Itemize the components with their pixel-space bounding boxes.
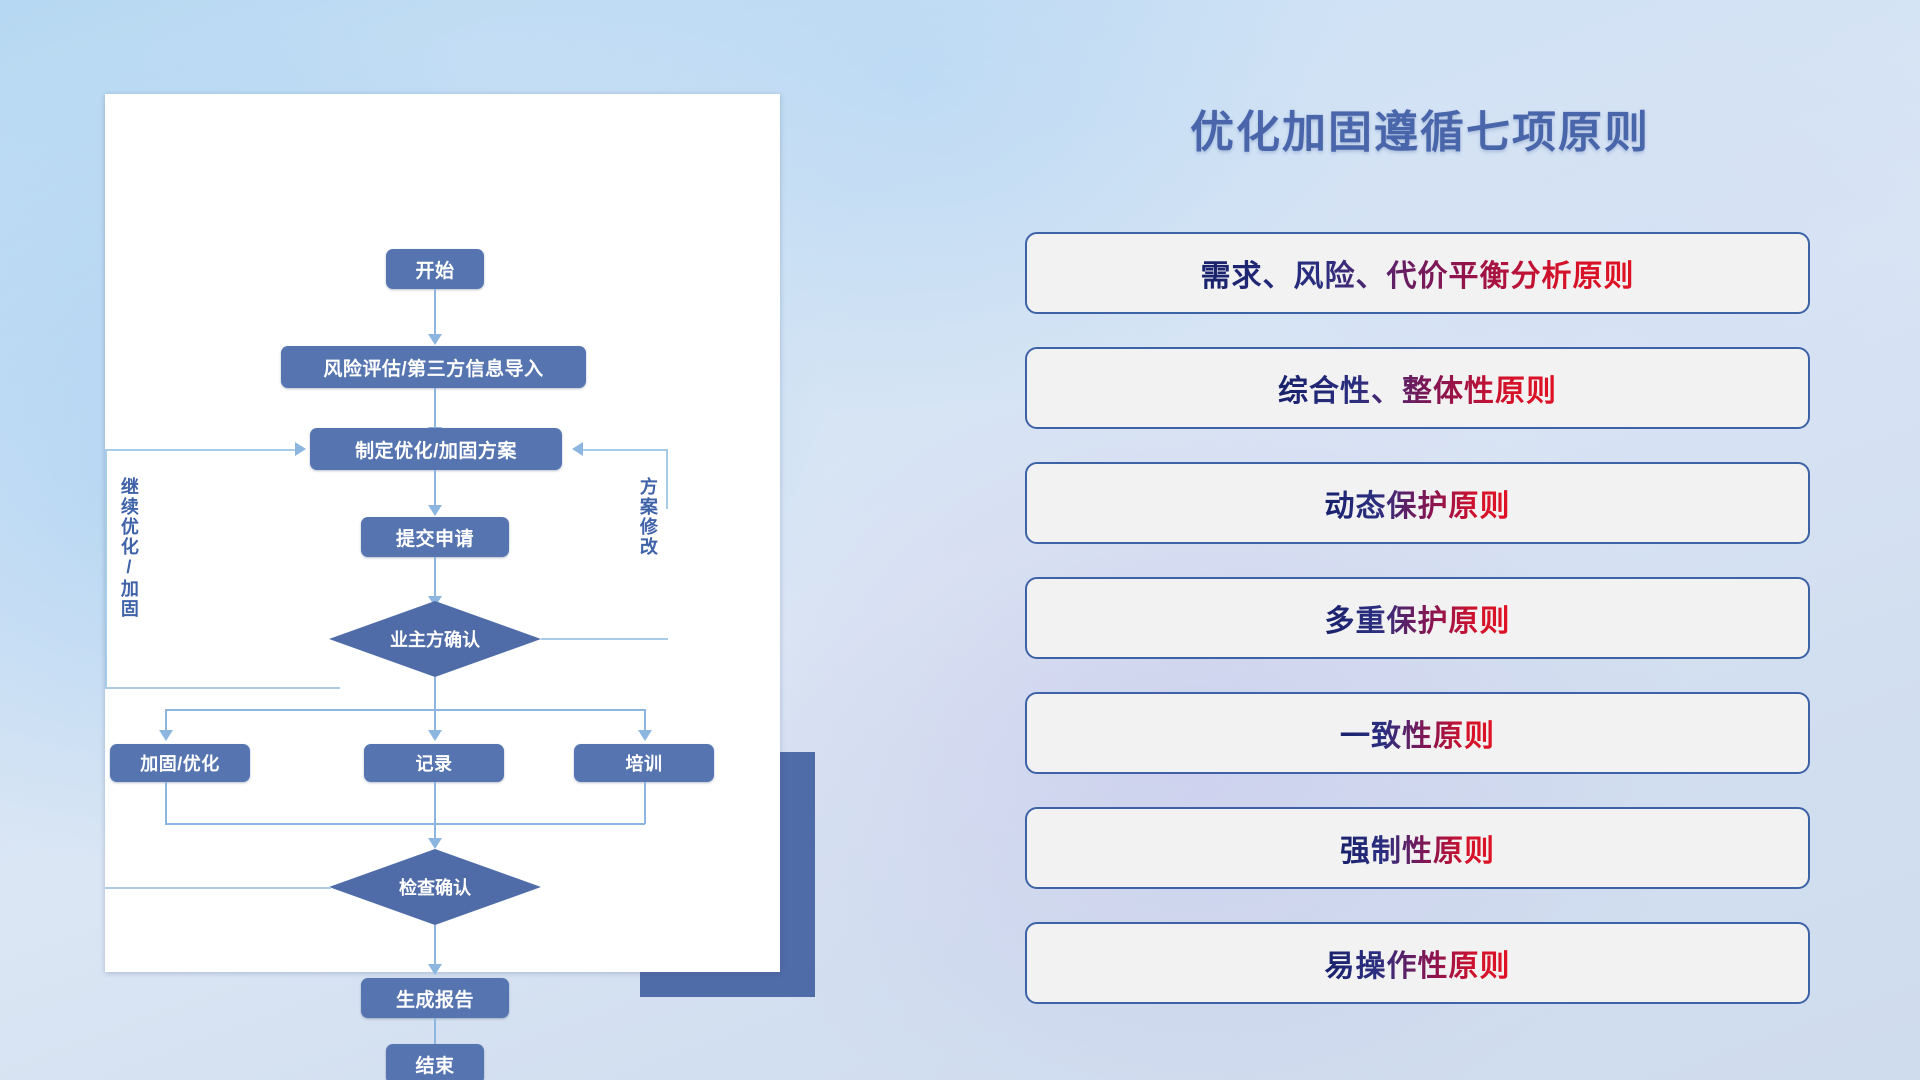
flow-node-record[interactable]: 记录 [364,744,504,782]
principle-label: 一致性原则 [1340,711,1495,755]
flow-node-owner-confirm-label: 业主方确认 [390,626,480,652]
left-loop-line-bottom [105,687,340,689]
flow-node-end-label: 结束 [415,1051,454,1078]
right-loop-line-top [583,449,668,451]
principle-item-3[interactable]: 动态保护原则 [1025,462,1810,544]
flow-node-check-confirm[interactable]: 检查确认 [329,849,541,925]
flow-node-submit-application-label: 提交申请 [396,524,474,551]
flow-node-check-confirm-label: 检查确认 [399,874,471,900]
edge-fanin-arrow [428,838,442,849]
flowchart-canvas: 开始 风险评估/第三方信息导入 制定优化/加固方案 [105,94,780,972]
flow-node-owner-confirm[interactable]: 业主方确认 [329,601,541,677]
flow-node-reinforce-optimize-label: 加固/优化 [140,750,220,776]
right-loop-line-vertical [666,449,668,509]
principle-item-1[interactable]: 需求、风险、代价平衡分析原则 [1025,232,1810,314]
flow-node-generate-report-label: 生成报告 [396,985,474,1012]
principle-label: 强制性原则 [1340,826,1495,870]
principle-item-2[interactable]: 综合性、整体性原则 [1025,347,1810,429]
edge-fanout-bar [165,709,645,711]
flowchart-card: 开始 风险评估/第三方信息导入 制定优化/加固方案 [105,94,780,972]
edge-fanout-right-arrow [638,730,652,741]
principle-label: 多重保护原则 [1325,596,1511,640]
flow-node-record-label: 记录 [416,750,453,776]
edge-fanin-right-rise [644,782,646,824]
edge-owner-confirm-down [434,677,436,710]
edge-fanout-left-arrow [159,730,173,741]
left-loop-arrow [295,442,306,456]
flow-node-make-plan-label: 制定优化/加固方案 [355,436,517,463]
flow-node-generate-report[interactable]: 生成报告 [361,978,509,1018]
principle-label: 需求、风险、代价平衡分析原则 [1201,251,1635,295]
left-loop-line-top [105,449,295,451]
page-title: 优化加固遵循七项原则 [1020,96,1820,160]
flow-node-risk-assessment[interactable]: 风险评估/第三方信息导入 [281,346,586,388]
flow-node-training[interactable]: 培训 [574,744,714,782]
principle-label: 易操作性原则 [1325,941,1511,985]
edge-check-confirm-left [105,887,331,889]
edge-fanout-mid-arrow [428,730,442,741]
flow-node-reinforce-optimize[interactable]: 加固/优化 [110,744,250,782]
left-loop-line-vertical [105,449,107,688]
flow-node-start-label: 开始 [415,256,454,283]
edge-fanin-mid-drop [434,782,436,844]
flow-node-make-plan-box[interactable]: 制定优化/加固方案 [310,428,562,470]
flow-node-training-label: 培训 [626,750,663,776]
flow-node-end[interactable]: 结束 [386,1044,484,1080]
principle-list: 需求、风险、代价平衡分析原则 综合性、整体性原则 动态保护原则 多重保护原则 一… [1025,232,1810,1037]
principle-item-7[interactable]: 易操作性原则 [1025,922,1810,1004]
flow-node-submit-application[interactable]: 提交申请 [361,517,509,557]
principle-label: 综合性、整体性原则 [1278,366,1557,410]
edge-fanin-left-rise [165,782,167,824]
edge-label-right-loop: 方案修改 [638,477,657,557]
edge-label-left-loop: 继续优化/加固 [119,477,138,619]
edge-start-to-risk-arrow [428,334,442,345]
principle-item-5[interactable]: 一致性原则 [1025,692,1810,774]
slide-root: 开始 风险评估/第三方信息导入 制定优化/加固方案 [0,0,1920,1080]
edge-plan-to-submit-arrow [428,505,442,516]
edge-fanin-bar [165,823,645,825]
principle-item-6[interactable]: 强制性原则 [1025,807,1810,889]
flow-node-start[interactable]: 开始 [386,249,484,289]
flow-node-risk-assessment-label: 风险评估/第三方信息导入 [323,354,543,381]
edge-owner-confirm-right [541,638,668,640]
principle-item-4[interactable]: 多重保护原则 [1025,577,1810,659]
principle-label: 动态保护原则 [1325,481,1511,525]
right-loop-arrow [572,442,583,456]
edge-check-to-report-arrow [428,964,442,975]
